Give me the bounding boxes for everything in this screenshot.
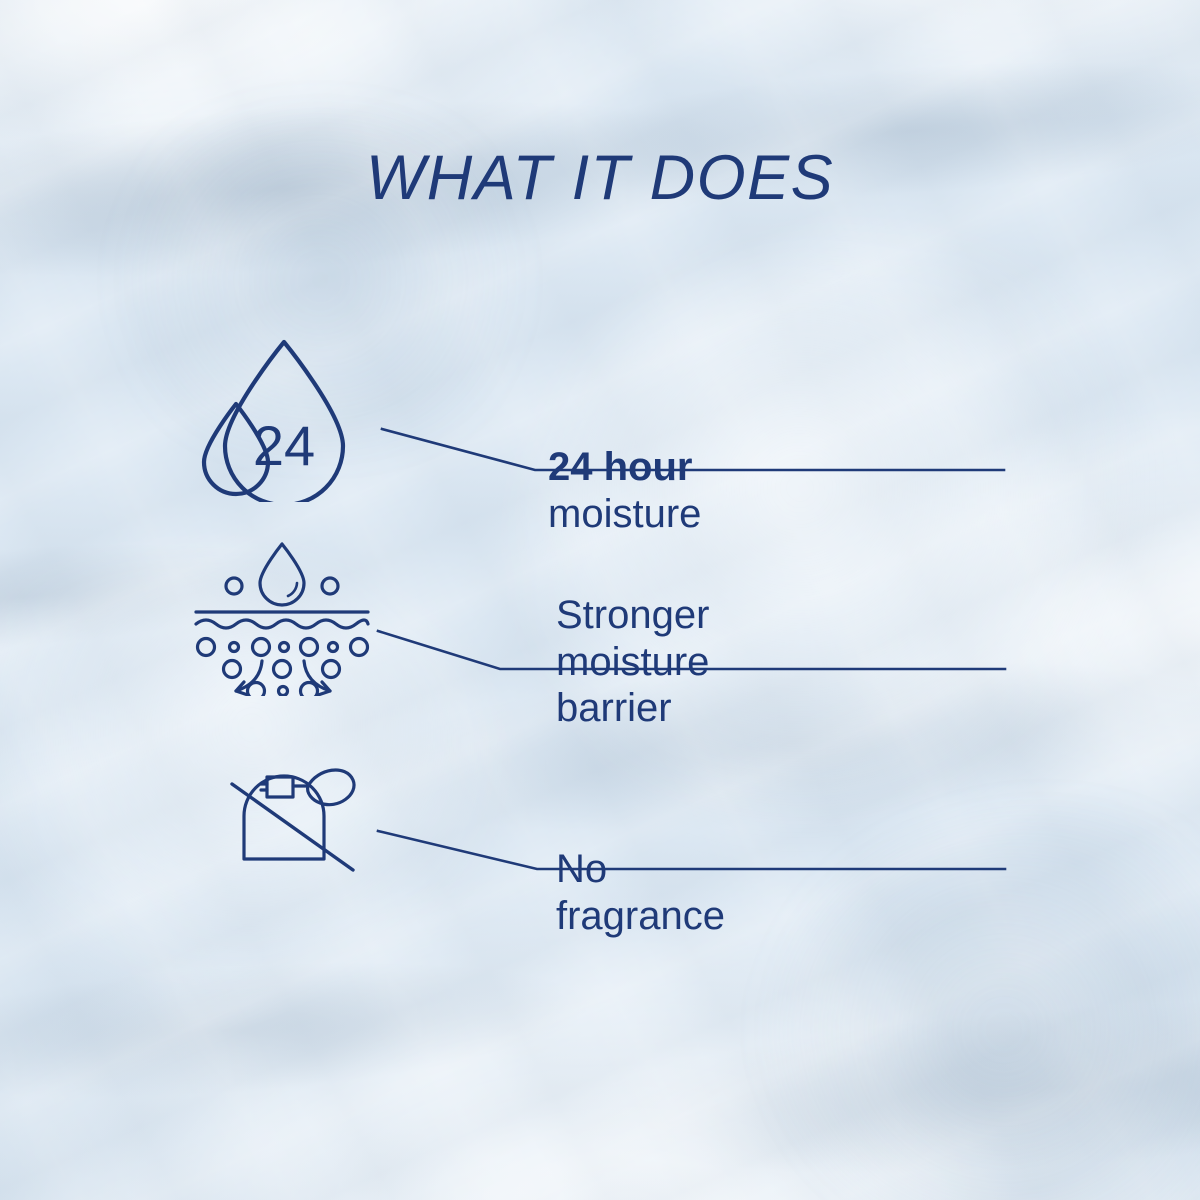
water-droplet-24-icon: 24 [196, 332, 356, 502]
benefit-label-2: Stronger moisture barrier [556, 546, 709, 732]
benefit-label-1: 24 hour moisture [548, 398, 701, 537]
benefit-label-2-rest: Stronger moisture barrier [556, 593, 709, 730]
benefit-label-1-rest: moisture [548, 492, 701, 536]
no-fragrance-perfume-bottle-icon [222, 758, 362, 878]
benefit-label-1-bold: 24 hour [548, 445, 692, 489]
product-benefits-infographic: WHAT IT DOES 24 24 hour moisture [0, 0, 1200, 1200]
skin-moisture-barrier-icon [192, 536, 372, 696]
benefit-label-3-rest: No fragrance [556, 847, 725, 937]
benefit-label-3: No fragrance [556, 800, 725, 939]
page-title: WHAT IT DOES [0, 142, 1200, 214]
droplet-badge-number: 24 [253, 414, 315, 477]
